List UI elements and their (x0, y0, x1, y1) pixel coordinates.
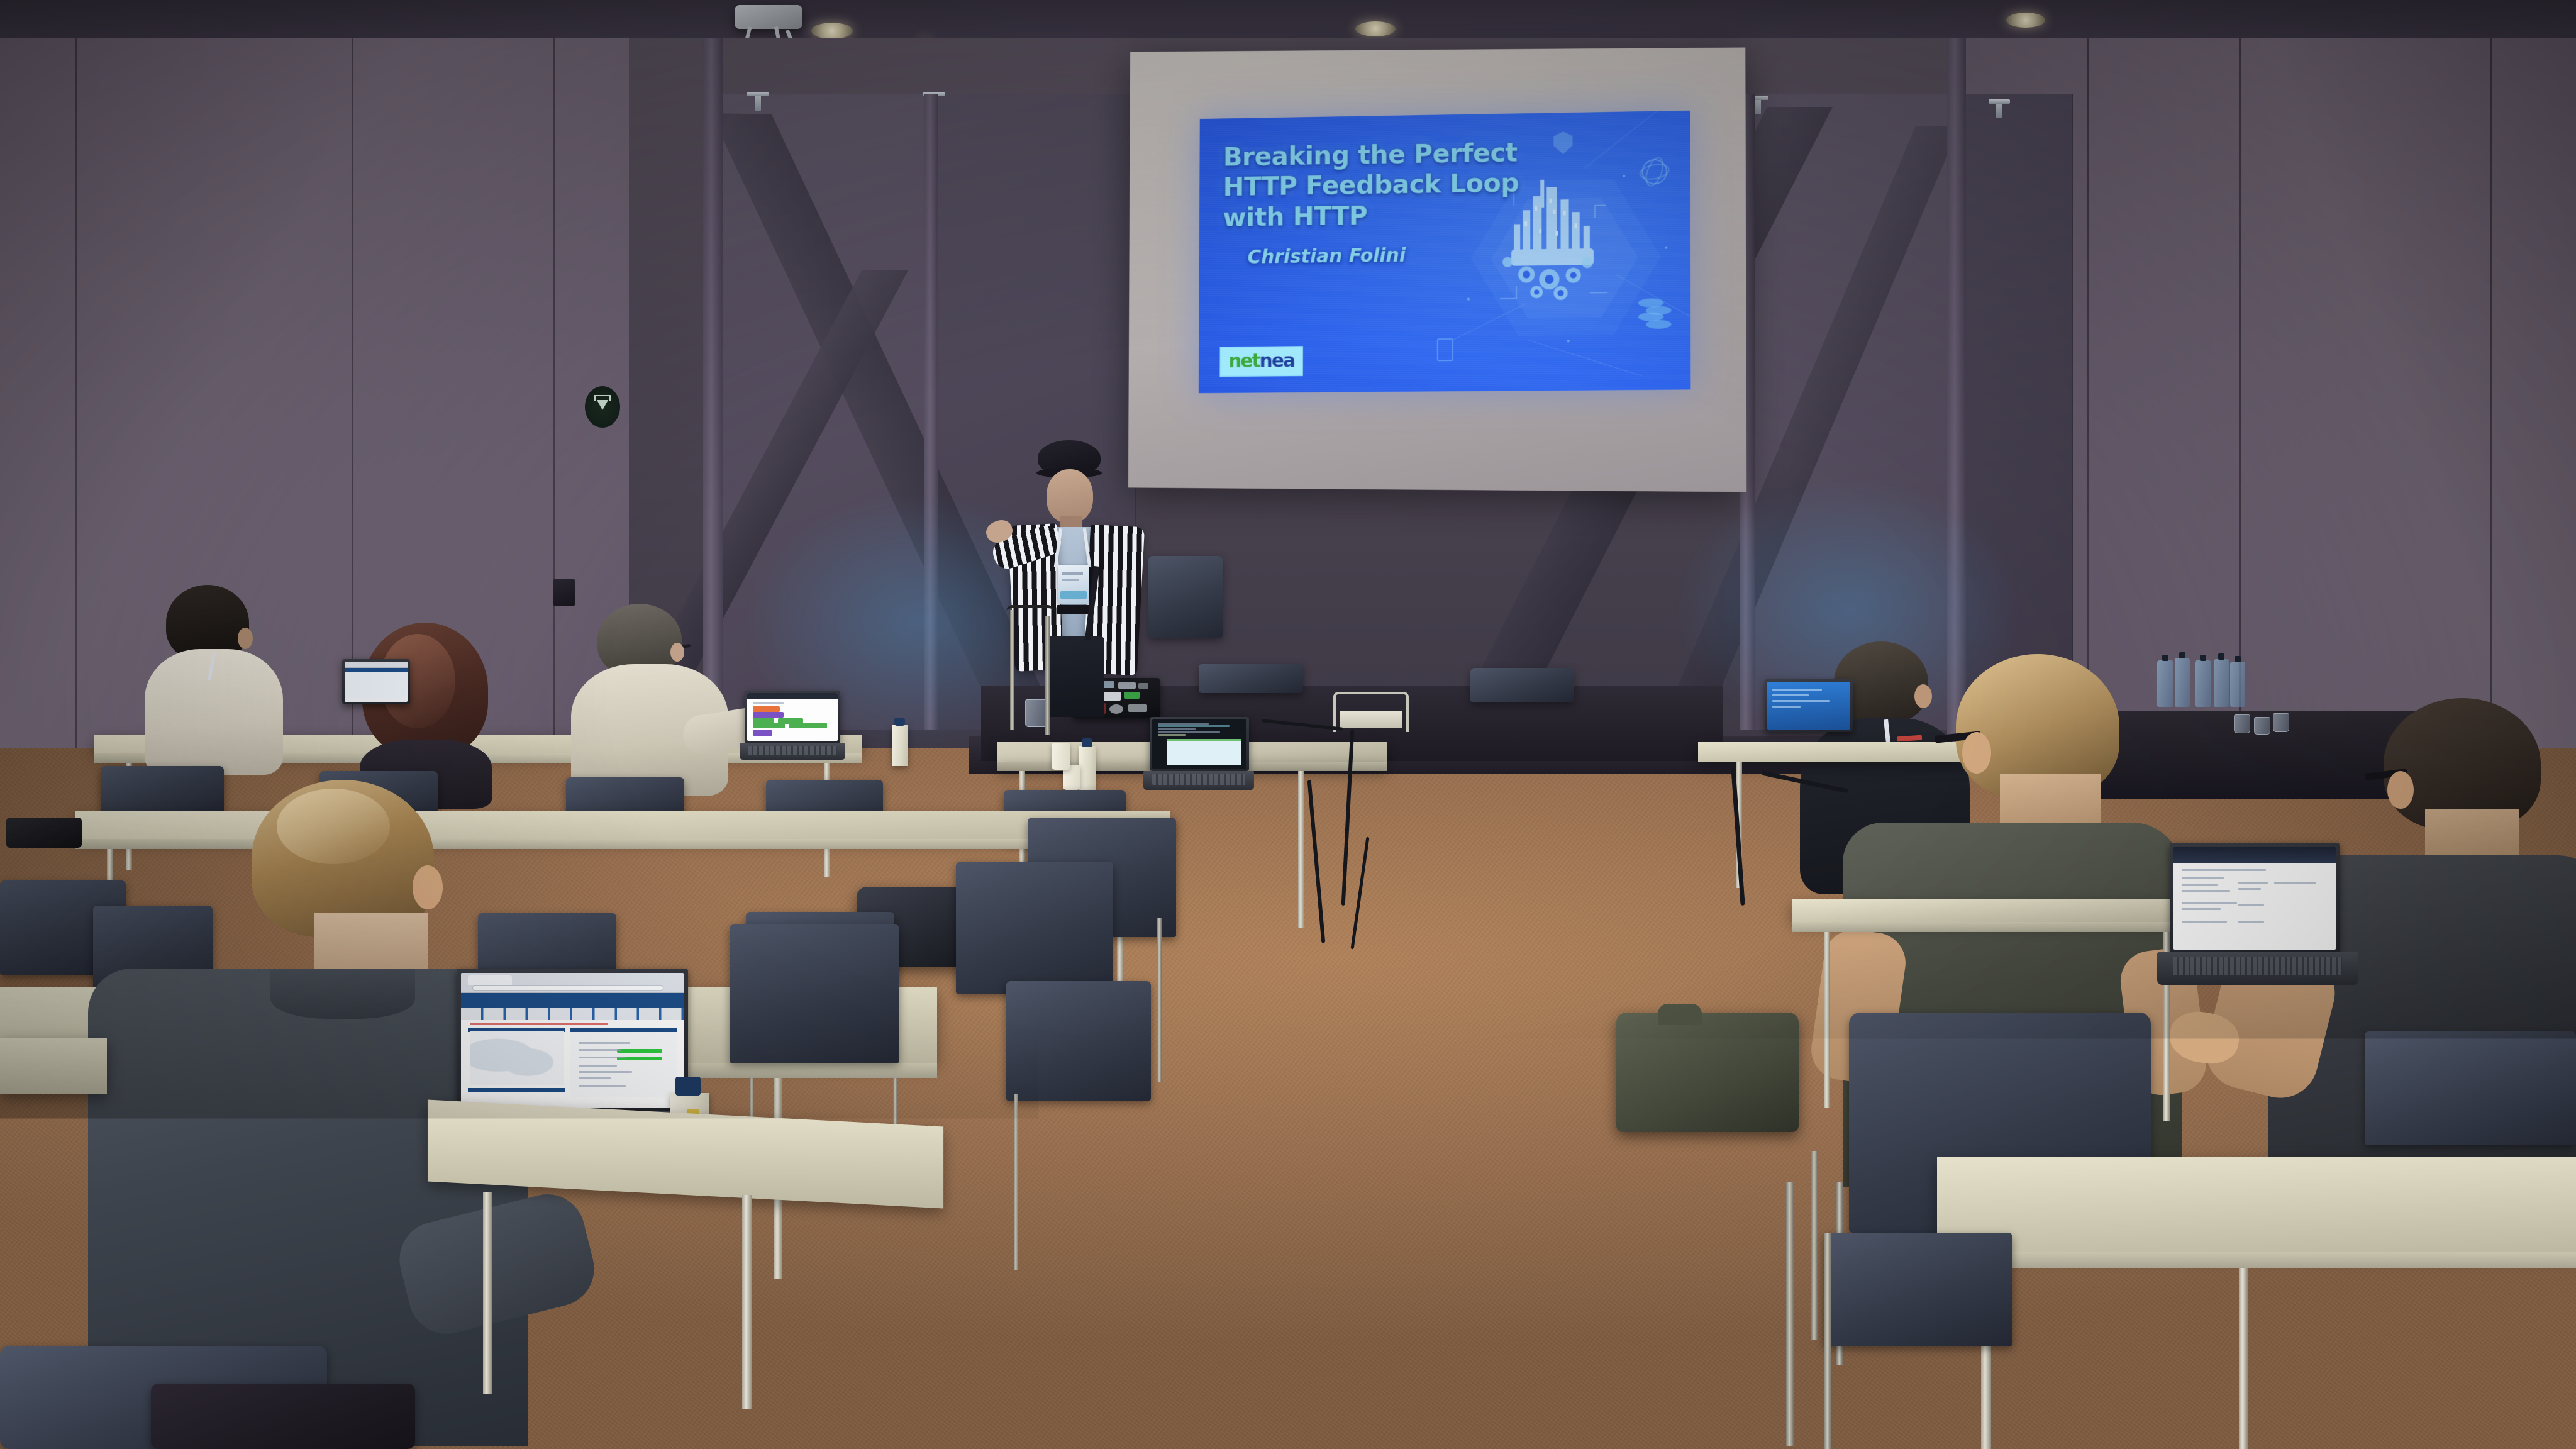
speaker-trousers (1046, 636, 1104, 717)
audience-table-bottom-left (0, 1038, 107, 1094)
app-navbar (461, 993, 684, 1008)
badge-line (1062, 579, 1079, 581)
chair-leg (1069, 1126, 1074, 1289)
table-leg (483, 1192, 492, 1394)
table-leg (1824, 932, 1830, 1108)
highlight-orange (753, 706, 780, 712)
laptop-keys[interactable] (1152, 774, 1245, 784)
browser-url-bar[interactable] (472, 985, 663, 991)
browser-chrome (461, 973, 684, 993)
netnea-logo: netnea (1219, 346, 1303, 377)
laptop-keys[interactable] (748, 746, 836, 755)
stage-chair[interactable] (1470, 668, 1574, 702)
chair-leg (1824, 1233, 1831, 1449)
audience-chair[interactable] (1006, 981, 1151, 1101)
conference-room-scene: Breaking the Perfect HTTP Feedback Loop … (0, 0, 2576, 1449)
wall-seam (2490, 38, 2492, 780)
highlight-green (753, 723, 786, 728)
carton-cap (894, 718, 905, 726)
attendee-ear (1962, 732, 1991, 774)
wall-panel (1953, 94, 2073, 730)
progress-bar-green (617, 1049, 662, 1053)
power-strip-stand (1333, 692, 1409, 732)
circuit-node (1623, 175, 1625, 177)
wall-seam (553, 38, 555, 780)
circuit-trace (1527, 340, 1642, 377)
stool-leg (1045, 616, 1050, 735)
attendee-collar (270, 969, 415, 1019)
browser-tab[interactable] (468, 975, 513, 985)
circuit-node (1467, 298, 1470, 301)
panel-hanger-bracket (755, 92, 761, 111)
audience-chair[interactable] (2365, 1031, 2576, 1145)
editor-window (1167, 739, 1241, 765)
slide-title-line-1: Breaking the Perfect (1223, 136, 1574, 172)
beverage-carton-stage[interactable] (1079, 746, 1096, 791)
presentation-slide: Breaking the Perfect HTTP Feedback Loop … (1199, 111, 1690, 393)
carton-cap (675, 1077, 701, 1096)
chair-leg (1014, 1094, 1018, 1270)
attendee-left-white-shirt (137, 585, 326, 792)
browser-chrome (345, 662, 408, 668)
audience-table-right-front (1937, 1157, 2576, 1252)
laptop-mid-left[interactable] (740, 691, 845, 763)
highlight-green (789, 723, 826, 728)
table-leg (2239, 1268, 2248, 1449)
table-edge (1792, 922, 2195, 932)
attendee-ear (670, 643, 684, 662)
carton-cap (1082, 738, 1092, 747)
logo-text-nea: nea (1260, 350, 1294, 372)
table-edge (1937, 1252, 2576, 1268)
chair-leg (1811, 1151, 1818, 1340)
highlight-purple (753, 730, 773, 736)
laptop-keyboard-base[interactable] (740, 743, 845, 760)
stage-chair[interactable] (1199, 664, 1303, 693)
wall-seam (75, 38, 77, 780)
laptop-screen-spreadsheet (2173, 847, 2336, 950)
laptop-screen-dashboard (461, 973, 684, 1108)
circuit-node (1665, 247, 1667, 249)
laptop-back-left[interactable] (340, 659, 413, 709)
audience-chair[interactable] (151, 1384, 415, 1449)
audience-chair[interactable] (956, 862, 1113, 994)
logo-text-net: net (1228, 350, 1260, 372)
audience-chair[interactable] (730, 924, 899, 1063)
badge-accent (1060, 591, 1087, 599)
stats-panel (570, 1029, 677, 1097)
slide-title-line-3: with HTTP (1223, 197, 1573, 233)
circuit-node (1567, 340, 1570, 342)
slide-author: Christian Folini (1247, 245, 1406, 269)
ceiling-spotlight (2006, 13, 2045, 28)
slide-title: Breaking the Perfect HTTP Feedback Loop … (1223, 136, 1573, 233)
ceiling-spotlight (811, 23, 853, 39)
backpack-strap (1658, 1004, 1702, 1025)
laptop-keys[interactable] (2173, 957, 2343, 975)
backpack-olive[interactable] (1616, 1013, 1799, 1132)
dashboard-body (461, 1020, 684, 1108)
exit-sign (585, 386, 620, 428)
attendee-ear (413, 865, 443, 909)
support-column (924, 94, 938, 730)
highlight-purple (753, 712, 784, 718)
tag-icon (1437, 338, 1453, 361)
laptop-keyboard-base[interactable] (2157, 952, 2358, 985)
ceiling-projector (735, 5, 802, 29)
laptop-screen-browser (345, 662, 408, 702)
chair-leg (1126, 1088, 1130, 1270)
table-leg (742, 1195, 752, 1409)
laptop-screen-terminal (1152, 719, 1246, 769)
badge-line (1062, 572, 1083, 575)
beverage-carton-mid[interactable] (892, 724, 908, 766)
laptop-presenter-table[interactable] (1143, 717, 1254, 791)
alert-text (470, 1023, 608, 1024)
stool-leg (1010, 610, 1014, 730)
panel-footer-left (468, 1088, 566, 1092)
attendee-torso (145, 649, 283, 775)
chair-leg (1786, 1182, 1794, 1446)
browser-body (345, 672, 408, 699)
panel-hanger-bracket (1996, 99, 2002, 118)
paper-cup-mid[interactable] (1052, 743, 1070, 770)
attendee-hair-shine (277, 789, 390, 864)
laptop-right-front[interactable] (2157, 843, 2358, 987)
exit-down-arrow-icon (597, 400, 608, 410)
chair-leg (1157, 918, 1162, 1082)
attendee-ear (2387, 771, 2414, 809)
table-leg (1298, 771, 1304, 928)
wall-switch-plate[interactable] (553, 579, 575, 606)
world-map-widget (470, 1031, 563, 1085)
atom-icon (1638, 156, 1671, 188)
slide-title-line-2: HTTP Feedback Loop (1223, 167, 1574, 202)
laptop-keyboard-base[interactable] (1143, 771, 1254, 790)
app-navbar (345, 668, 408, 672)
ceiling-spotlight (1355, 21, 1396, 36)
document-toolbar (2173, 847, 2336, 863)
water-bottle[interactable] (2214, 659, 2229, 707)
laptop-screen-document (747, 693, 838, 741)
coins-icon (1637, 298, 1674, 334)
panel-hanger-bracket (1755, 96, 1761, 114)
badge-clip (1057, 605, 1091, 614)
audience-chair[interactable] (1824, 1233, 2012, 1346)
app-tabs[interactable] (461, 1008, 684, 1020)
audience-table-right-mid (1792, 899, 2195, 922)
document-header (747, 693, 838, 699)
attendee-ear (238, 628, 253, 649)
